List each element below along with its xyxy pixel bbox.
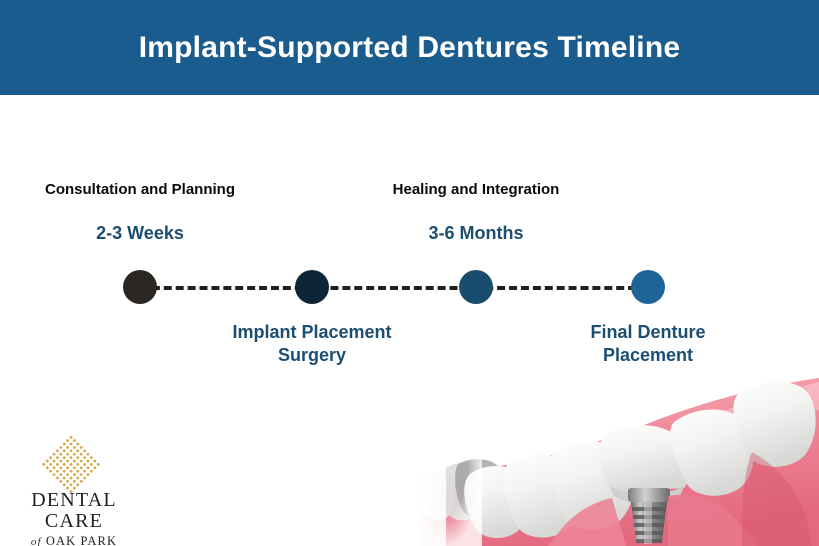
timeline-step-duration-3: 3-6 Months — [326, 222, 626, 245]
page-title: Implant-Supported Dentures Timeline — [0, 0, 819, 95]
timeline-label-group-4: Final Denture Placement — [498, 321, 798, 366]
logo-of-text: of — [31, 536, 42, 546]
timeline-step-title-2: Implant Placement Surgery — [162, 321, 462, 366]
timeline-axis-line — [140, 286, 648, 290]
timeline-node-3[interactable] — [459, 270, 493, 304]
dental-implant-image — [412, 366, 819, 546]
logo-city-text: OAK PARK — [46, 534, 117, 546]
timeline: Consultation and Planning 2-3 Weeks Impl… — [0, 95, 819, 395]
timeline-step-title-3: Healing and Integration — [326, 181, 626, 200]
timeline-label-group-1: Consultation and Planning 2-3 Weeks — [0, 181, 290, 245]
timeline-node-2[interactable] — [295, 270, 329, 304]
implant-abutment — [628, 488, 670, 502]
timeline-node-1[interactable] — [123, 270, 157, 304]
timeline-step-title-1: Consultation and Planning — [0, 181, 290, 200]
slide: Implant-Supported Dentures Timeline Cons… — [0, 0, 819, 546]
timeline-node-4[interactable] — [631, 270, 665, 304]
logo-name-line1: DENTAL CARE — [8, 490, 140, 532]
timeline-label-group-2: Implant Placement Surgery — [162, 321, 462, 366]
timeline-step-title-4: Final Denture Placement — [498, 321, 798, 366]
logo-name-line2: of OAK PARK — [8, 533, 140, 546]
timeline-step-duration-1: 2-3 Weeks — [0, 222, 290, 245]
logo-wordmark: DENTAL CARE of OAK PARK — [8, 490, 140, 546]
diamond-icon — [36, 434, 106, 496]
timeline-label-group-3: Healing and Integration 3-6 Months — [326, 181, 626, 245]
logo: DENTAL CARE of OAK PARK — [8, 434, 140, 534]
